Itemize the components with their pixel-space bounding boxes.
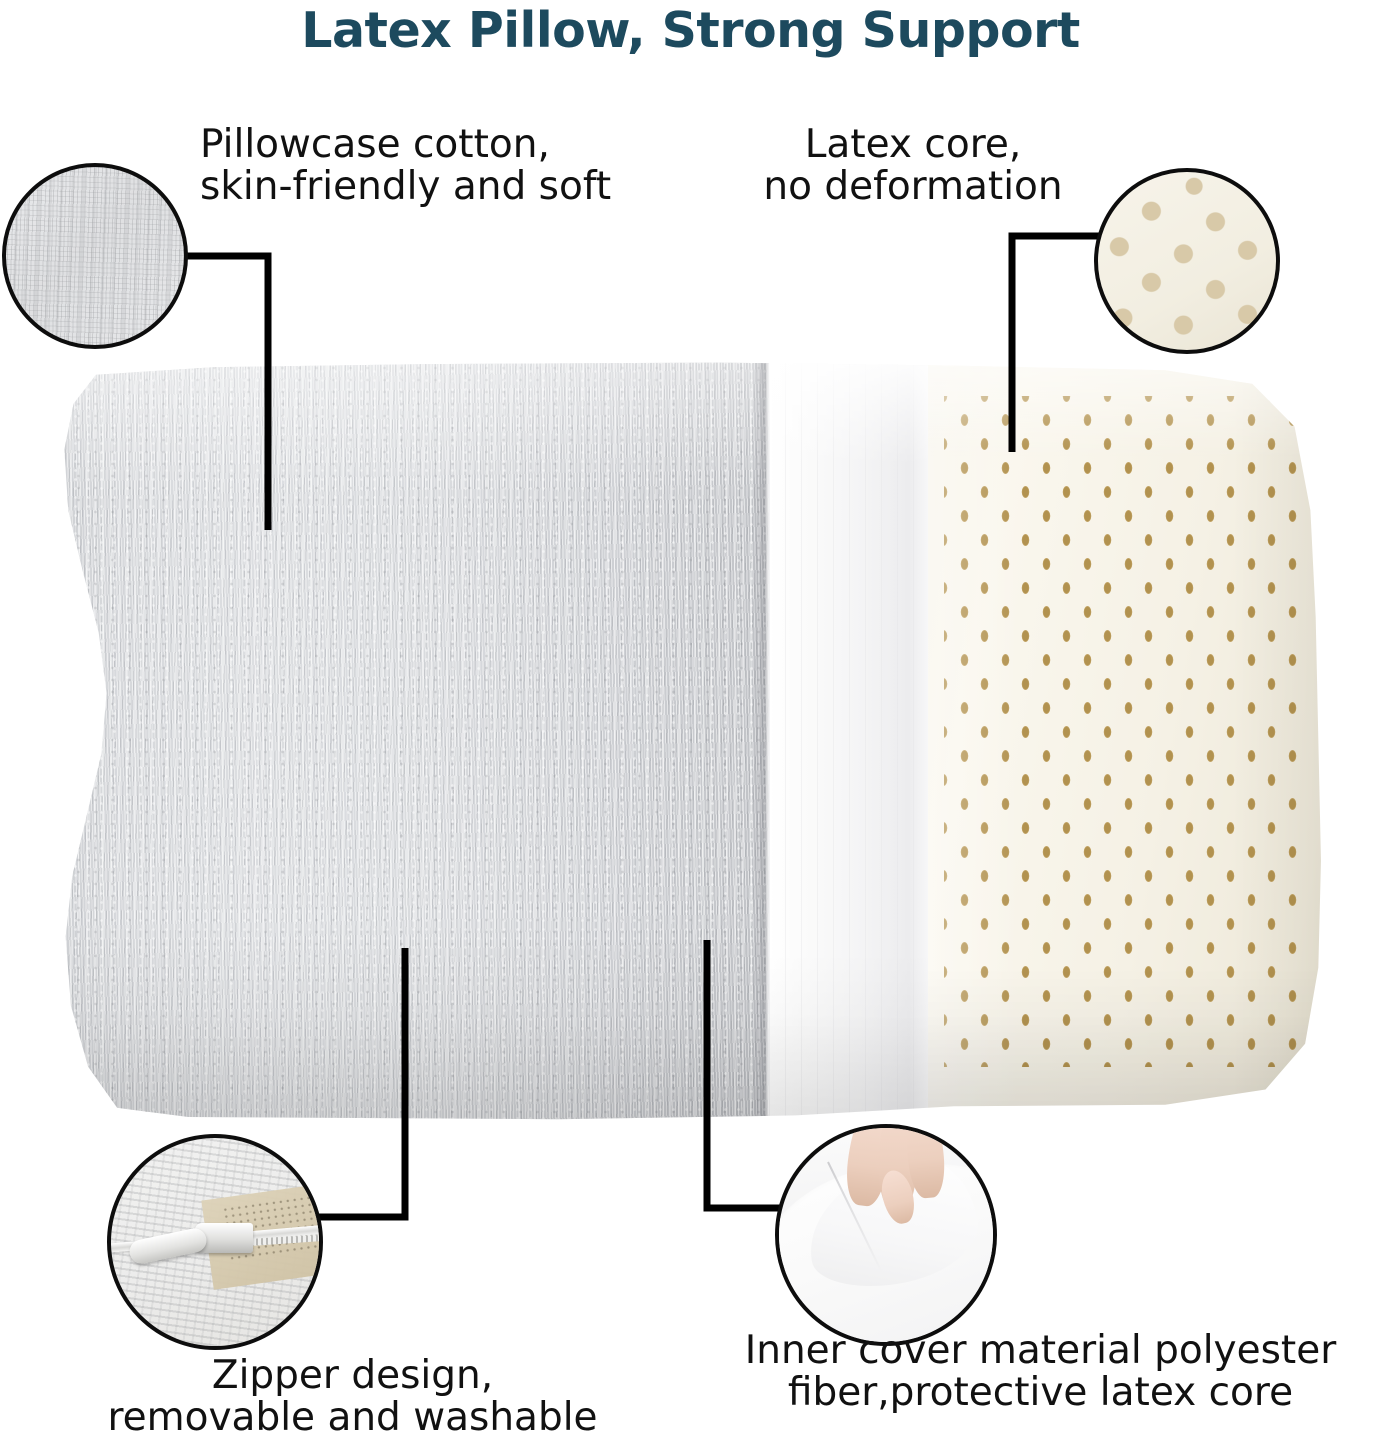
pillow-silhouette — [30, 358, 1350, 1120]
page-title: Latex Pillow, Strong Support — [0, 2, 1381, 59]
inset-latex-holes-closeup — [1094, 168, 1280, 354]
infographic-canvas: Latex Pillow, Strong Support — [0, 0, 1381, 1431]
product-image-latex-pillow — [30, 358, 1350, 1120]
callout-label-latex-core: Latex core, no deformation — [718, 124, 1108, 208]
callout-label-zipper: Zipper design, removable and washable — [55, 1355, 650, 1431]
callout-label-inner-cover: Inner cover material polyester fiber,pro… — [700, 1330, 1381, 1414]
callout-label-pillowcase: Pillowcase cotton, skin-friendly and sof… — [200, 124, 611, 208]
latex-core-edge-shadow — [1327, 358, 1350, 1120]
inset-hand-holding-polyester-sheet-closeup — [775, 1124, 997, 1346]
inset-woven-cotton-fabric-closeup — [2, 163, 188, 349]
inset-zipper-closeup — [107, 1134, 323, 1350]
pillow-bottom-shadow — [30, 358, 1350, 1120]
